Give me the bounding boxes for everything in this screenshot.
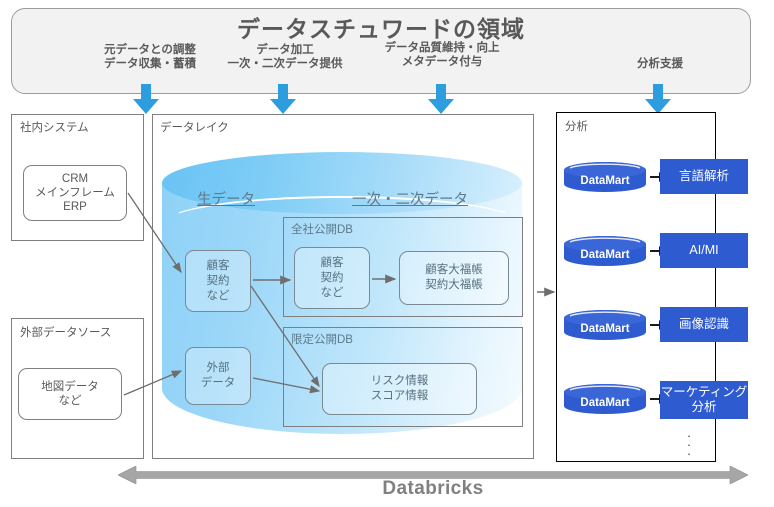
- analysis-box-3: マーケティング 分析: [660, 381, 748, 419]
- header-caption-2-line2: メタデータ付与: [362, 55, 522, 69]
- panel-external-sources-title: 外部データソース: [20, 324, 111, 340]
- lake-customer-pub-line2: 契約: [321, 271, 344, 286]
- lake-customer-pub-line1: 顧客: [321, 256, 344, 271]
- lake-customer-raw-line2: 契約: [207, 274, 230, 289]
- source-map-line2: など: [41, 394, 99, 408]
- lake-customer-pub-line3: など: [321, 286, 344, 301]
- source-crm-line1: CRM: [35, 172, 115, 186]
- lake-ledger-line1: 顧客大福帳: [425, 263, 483, 278]
- lake-box-ledger: 顧客大福帳 契約大福帳: [399, 251, 509, 305]
- source-box-crm: CRM メインフレーム ERP: [23, 165, 127, 221]
- down-arrow-icon-0: [133, 84, 159, 114]
- analysis-box-3-line2: 分析: [661, 400, 748, 415]
- down-arrow-icon-1: [270, 84, 296, 114]
- lake-customer-raw-line3: など: [207, 289, 230, 304]
- analysis-box-0: 言語解析: [660, 159, 748, 194]
- lake-box-external-raw: 外部 データ: [185, 347, 251, 405]
- public-db-title: 全社公開DB: [291, 221, 353, 237]
- header-caption-3: 分析支援: [580, 57, 740, 71]
- source-box-map-data: 地図データ など: [18, 368, 122, 420]
- down-arrow-icon-2: [428, 84, 454, 114]
- databricks-label: Databricks: [118, 478, 748, 500]
- lake-box-customer-public: 顧客 契約 など: [294, 247, 370, 309]
- lake-raw-data-label: 生データ: [197, 188, 255, 209]
- datamart-cylinder-icon-0: [564, 162, 646, 192]
- header-caption-1-line1: データ加工: [205, 43, 365, 57]
- panel-data-lake-title: データレイク: [160, 119, 229, 135]
- down-arrow-icon-3: [645, 84, 671, 114]
- continuation-dots: ···: [684, 432, 694, 459]
- source-map-line1: 地図データ: [41, 380, 99, 394]
- page-title: データスチュワードの領域: [11, 10, 751, 44]
- panel-analysis-title: 分析: [565, 118, 588, 134]
- lake-derived-data-label: 一次・二次データ: [352, 188, 468, 209]
- analysis-box-3-line1: マーケティング: [661, 385, 748, 400]
- datamart-cylinder-icon-3: [564, 384, 646, 414]
- panel-internal-systems-title: 社内システム: [20, 119, 89, 135]
- lake-risk-line1: リスク情報: [371, 374, 429, 389]
- limited-db-title: 限定公開DB: [291, 331, 353, 347]
- datamart-cylinder-icon-1: [564, 236, 646, 266]
- header-caption-2: データ品質維持・向上 メタデータ付与: [362, 41, 522, 69]
- lake-risk-line2: スコア情報: [371, 389, 429, 404]
- lake-box-customer-raw: 顧客 契約 など: [185, 250, 251, 312]
- lake-external-raw-line1: 外部: [201, 361, 236, 376]
- analysis-box-1: AI/MI: [660, 233, 748, 268]
- header-caption-2-line1: データ品質維持・向上: [362, 41, 522, 55]
- lake-box-risk: リスク情報 スコア情報: [322, 363, 477, 415]
- lake-customer-raw-line1: 顧客: [207, 259, 230, 274]
- source-crm-line2: メインフレーム: [35, 186, 115, 200]
- header-caption-1: データ加工 一次・二次データ提供: [205, 43, 365, 71]
- lake-external-raw-line2: データ: [201, 376, 236, 391]
- datamart-cylinder-icon-2: [564, 310, 646, 340]
- lake-ledger-line2: 契約大福帳: [425, 278, 483, 293]
- header-caption-3-line1: 分析支援: [580, 57, 740, 71]
- analysis-box-2: 画像認識: [660, 307, 748, 342]
- source-crm-line3: ERP: [35, 200, 115, 214]
- header-caption-1-line2: 一次・二次データ提供: [205, 57, 365, 71]
